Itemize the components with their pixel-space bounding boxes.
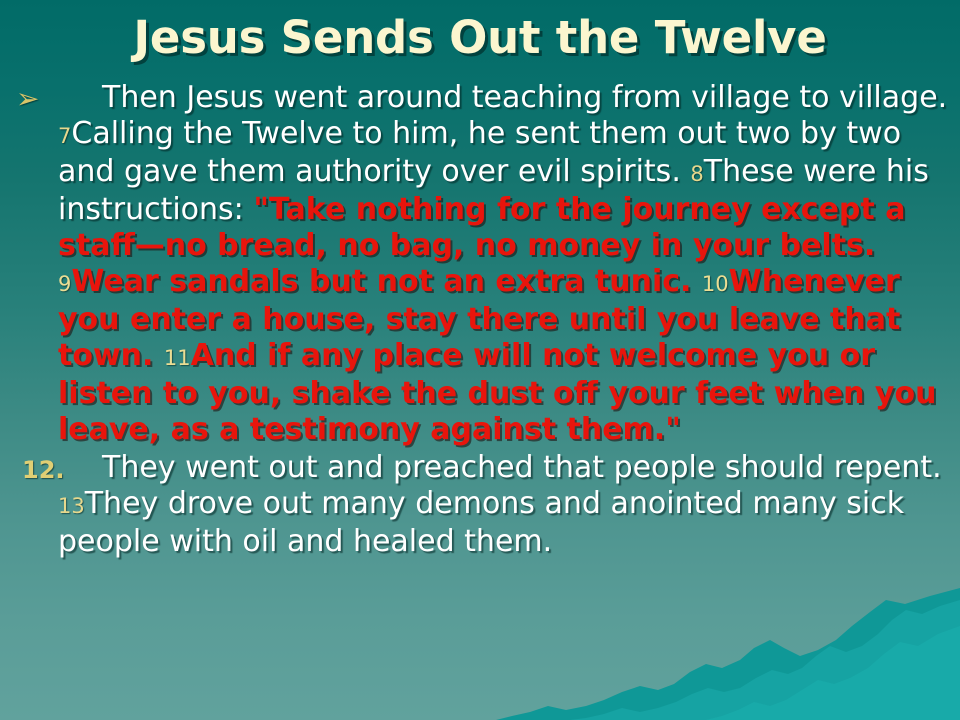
verse-number-13: 13 bbox=[58, 494, 85, 518]
decorative-shape-highlight bbox=[706, 626, 960, 720]
page-title: Jesus Sends Out the Twelve bbox=[0, 12, 960, 64]
list-number-marker: 12. bbox=[22, 453, 65, 487]
text-run: They went out and preached that people s… bbox=[102, 450, 942, 485]
verse-number-10: 10 bbox=[702, 272, 729, 296]
quote-run: And if any place will not welcome you or… bbox=[58, 338, 936, 447]
verse-number-7: 7 bbox=[58, 124, 71, 148]
text-run: Then Jesus went around teaching from vil… bbox=[102, 80, 947, 115]
arrow-bullet-icon: ➢ bbox=[16, 82, 39, 116]
slide: Jesus Sends Out the Twelve ➢ Then Jesus … bbox=[0, 0, 960, 720]
body-text-block: ➢ Then Jesus went around teaching from v… bbox=[8, 80, 952, 562]
decorative-shape-main-layer bbox=[570, 600, 960, 720]
verse-number-9: 9 bbox=[58, 272, 71, 296]
text-run: They drove out many demons and anointed … bbox=[58, 486, 904, 559]
verse-number-11: 11 bbox=[164, 346, 191, 370]
paragraph-verses-12-13: 12. They went out and preached that peop… bbox=[8, 450, 952, 560]
quote-run: Wear sandals but not an extra tunic. bbox=[71, 264, 702, 299]
paragraph-verses-6-11: ➢ Then Jesus went around teaching from v… bbox=[8, 80, 952, 448]
decorative-shape-shadow-layer bbox=[496, 588, 960, 720]
verse-number-8: 8 bbox=[690, 162, 703, 186]
